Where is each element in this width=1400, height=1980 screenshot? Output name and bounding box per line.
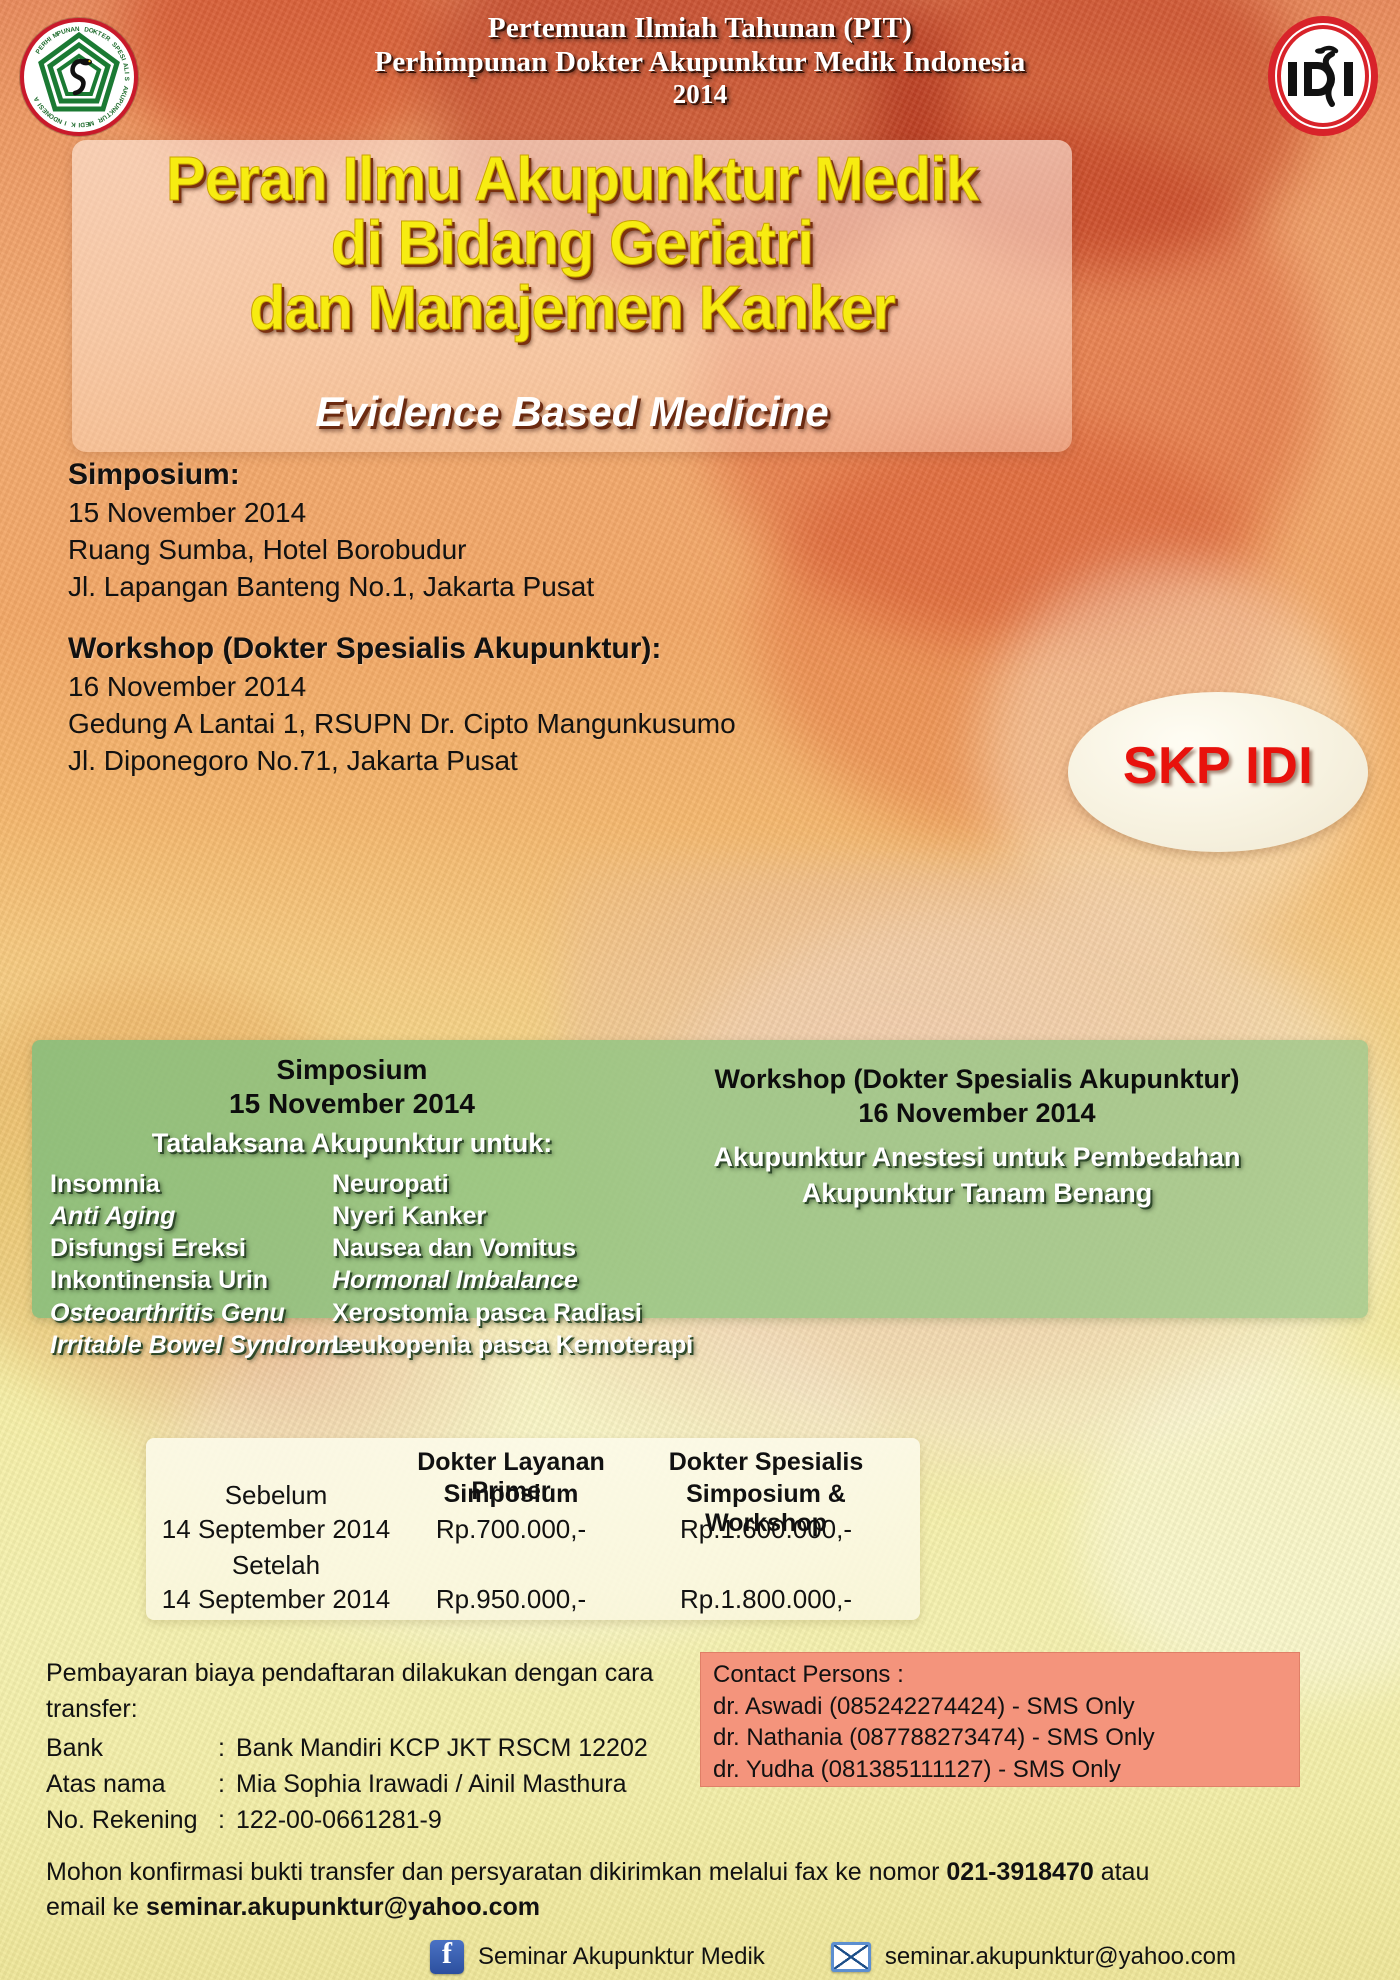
pdai-logo: PERHIMPUNAN DOKTER SPESIALIS AKUPUNKTUR … (20, 18, 138, 136)
topics-tatalaksana-heading: Tatalaksana Akupunktur untuk: (92, 1128, 612, 1159)
note-part-3: email ke (46, 1893, 146, 1921)
skp-idi-badge-label: SKP IDI (1068, 736, 1368, 796)
header-line-3: 2014 (170, 79, 1230, 110)
header-title-block: Pertemuan Ilmiah Tahunan (PIT) Perhimpun… (170, 12, 1230, 111)
price-col3-header-line1: Dokter Spesialis (626, 1448, 906, 1477)
workshop-date: 16 November 2014 (68, 669, 928, 706)
payment-name-value: Mia Sophia Irawadi / Ainil Masthura (236, 1766, 726, 1802)
contact-person-item: dr. Yudha (081385111127) - SMS Only (713, 1754, 1289, 1786)
note-email: seminar.akupunktur@yahoo.com (146, 1893, 540, 1921)
envelope-icon[interactable] (831, 1942, 871, 1972)
payment-bank-label: Bank (46, 1730, 218, 1766)
price-row1-col2: Rp.700.000,- (396, 1514, 626, 1545)
topic-item: Irritable Bowel Syndrome (50, 1329, 340, 1361)
price-row2-col3: Rp.1.800.000,- (626, 1584, 906, 1615)
topics-panel: Simposium 15 November 2014 Tatalaksana A… (32, 1040, 1368, 1318)
simposium-venue: Ruang Sumba, Hotel Borobudur (68, 532, 928, 569)
header-line-1: Pertemuan Ilmiah Tahunan (PIT) (170, 12, 1230, 46)
topic-item: Insomnia (50, 1168, 340, 1200)
contact-persons-list: dr. Aswadi (085242274424) - SMS Onlydr. … (713, 1691, 1289, 1786)
facebook-icon[interactable] (430, 1940, 464, 1974)
price-row1-label-line1: Sebelum (156, 1480, 396, 1511)
simposium-heading: Simposium: (68, 458, 928, 492)
payment-intro: Pembayaran biaya pendaftaran dilakukan d… (46, 1655, 726, 1728)
facebook-page-label[interactable]: Seminar Akupunktur Medik (478, 1943, 765, 1971)
simposium-date: 15 November 2014 (68, 495, 928, 532)
note-part-1: Mohon konfirmasi bukti transfer dan pers… (46, 1858, 946, 1886)
workshop-venue: Gedung A Lantai 1, RSUPN Dr. Cipto Mangu… (68, 706, 928, 743)
topic-item: Xerostomia pasca Radiasi (332, 1297, 712, 1329)
payment-separator: : (218, 1802, 236, 1838)
topic-item: Leukopenia pasca Kemoterapi (332, 1329, 712, 1361)
social-row: Seminar Akupunktur Medik seminar.akupunk… (430, 1936, 1370, 1978)
pdai-logo-emblem (37, 32, 121, 116)
payment-block: Pembayaran biaya pendaftaran dilakukan d… (46, 1655, 726, 1838)
workshop-topic-item: Akupunktur Anestesi untuk Pembedahan (582, 1140, 1372, 1176)
price-row1-label-line2: 14 September 2014 (156, 1514, 396, 1545)
price-col2-header-line2: Simposium (396, 1480, 626, 1509)
title-line-2: di Bidang Geriatri (92, 212, 1052, 276)
workshop-address: Jl. Diponegoro No.71, Jakarta Pusat (68, 743, 928, 780)
topics-workshop-items: Akupunktur Anestesi untuk PembedahanAkup… (582, 1140, 1372, 1212)
payment-account-value: 122-00-0661281-9 (236, 1802, 726, 1838)
workshop-topic-item: Akupunktur Tanam Benang (582, 1176, 1372, 1212)
schedule-block: Simposium: 15 November 2014 Ruang Sumba,… (68, 458, 928, 780)
payment-bank-row: Bank : Bank Mandiri KCP JKT RSCM 12202 (46, 1730, 726, 1766)
poster-title: Peran Ilmu Akupunktur Medik di Bidang Ge… (92, 148, 1052, 341)
pdai-pentagon-snake-icon (37, 32, 121, 116)
payment-bank-value: Bank Mandiri KCP JKT RSCM 12202 (236, 1730, 726, 1766)
skp-idi-badge: SKP IDI (1068, 692, 1368, 852)
topic-item: Anti Aging (50, 1200, 340, 1232)
note-part-2: atau (1094, 1858, 1150, 1886)
payment-separator: : (218, 1766, 236, 1802)
price-row2-label-line2: 14 September 2014 (156, 1584, 396, 1615)
topics-simposium-title: Simposium (92, 1054, 612, 1086)
poster-subtitle: Evidence Based Medicine (72, 388, 1072, 436)
title-line-3: dan Manajemen Kanker (92, 277, 1052, 341)
topic-item: Osteoarthritis Genu (50, 1297, 340, 1329)
simposium-address: Jl. Lapangan Banteng No.1, Jakarta Pusat (68, 569, 928, 606)
title-line-1: Peran Ilmu Akupunktur Medik (92, 148, 1052, 212)
payment-name-row: Atas nama : Mia Sophia Irawadi / Ainil M… (46, 1766, 726, 1802)
payment-account-label: No. Rekening (46, 1802, 218, 1838)
contact-persons-heading: Contact Persons : (713, 1659, 1289, 1691)
topics-workshop-date: 16 November 2014 (582, 1098, 1372, 1129)
payment-name-label: Atas nama (46, 1766, 218, 1802)
price-row2-col2: Rp.950.000,- (396, 1584, 626, 1615)
note-fax-number: 021-3918470 (946, 1858, 1093, 1886)
idi-snake-letters-icon (1282, 32, 1364, 120)
contact-persons-box: Contact Persons : dr. Aswadi (0852422744… (700, 1652, 1300, 1787)
topic-item: Hormonal Imbalance (332, 1264, 712, 1296)
topic-item: Nausea dan Vomitus (332, 1232, 712, 1264)
transfer-confirmation-note: Mohon konfirmasi bukti transfer dan pers… (46, 1855, 1346, 1925)
price-row1-col3: Rp.1.600.000,- (626, 1514, 906, 1545)
idi-logo (1268, 16, 1378, 136)
contact-person-item: dr. Aswadi (085242274424) - SMS Only (713, 1691, 1289, 1723)
price-row2-label-line1: Setelah (156, 1550, 396, 1581)
topics-column-left: InsomniaAnti AgingDisfungsi EreksiInkont… (50, 1168, 340, 1361)
topic-item: Inkontinensia Urin (50, 1264, 340, 1296)
workshop-heading: Workshop (Dokter Spesialis Akupunktur): (68, 632, 928, 666)
payment-account-row: No. Rekening : 122-00-0661281-9 (46, 1802, 726, 1838)
header-line-2: Perhimpunan Dokter Akupunktur Medik Indo… (170, 46, 1230, 80)
price-table: Dokter Layanan Primer Dokter Spesialis S… (146, 1438, 920, 1620)
topic-item: Disfungsi Ereksi (50, 1232, 340, 1264)
contact-person-item: dr. Nathania (087788273474) - SMS Only (713, 1722, 1289, 1754)
schedule-spacer (68, 606, 928, 632)
topics-workshop-title: Workshop (Dokter Spesialis Akupunktur) (582, 1064, 1372, 1095)
poster-header: PERHIMPUNAN DOKTER SPESIALIS AKUPUNKTUR … (0, 0, 1400, 150)
payment-separator: : (218, 1730, 236, 1766)
email-address-label[interactable]: seminar.akupunktur@yahoo.com (885, 1943, 1236, 1971)
poster-canvas: PERHIMPUNAN DOKTER SPESIALIS AKUPUNKTUR … (0, 0, 1400, 1980)
topics-simposium-date: 15 November 2014 (92, 1088, 612, 1120)
